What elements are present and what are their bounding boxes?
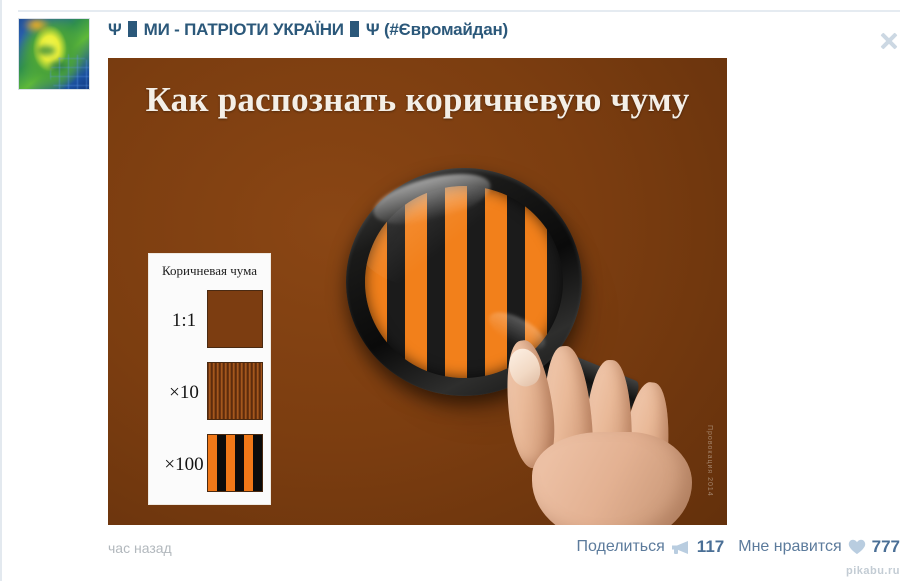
legend-row: 1:1 (157, 290, 265, 352)
legend-row: ×100 (157, 434, 265, 496)
share-label: Поделиться (576, 538, 664, 556)
legend-row-label: ×10 (157, 382, 211, 404)
site-watermark: pikabu.ru (846, 565, 900, 577)
post-page: Ψ МИ - ПАТРІОТИ УКРАЇНИ Ψ (#Євромайдан) … (0, 0, 918, 581)
avatar-grid-overlay (50, 54, 90, 90)
poster-watermark: Провокация 2014 (706, 425, 713, 497)
legend-row-label: 1:1 (157, 310, 211, 332)
close-icon[interactable] (878, 30, 900, 52)
block-glyph-left-icon (128, 21, 137, 37)
avatar-face-detail-1 (37, 46, 55, 56)
legend-row: ×10 (157, 362, 265, 424)
block-glyph-right-icon (350, 21, 359, 37)
like-button[interactable]: Мне нравится 777 (738, 537, 900, 557)
hand-fingernail (505, 345, 545, 390)
top-divider (18, 10, 900, 12)
post-title[interactable]: Ψ МИ - ПАТРІОТИ УКРАЇНИ Ψ (#Євромайдан) (108, 20, 508, 40)
post-actions: Поделиться 117 Мне нравится 777 (576, 537, 900, 557)
post-title-symbol-right: Ψ (366, 20, 380, 39)
hand-palm (532, 432, 692, 525)
heart-icon (848, 539, 866, 555)
avatar[interactable] (18, 18, 90, 90)
post-image[interactable]: Как распознать коричневую чуму Коричнева… (108, 58, 727, 525)
like-count: 777 (872, 537, 900, 557)
legend-swatch-solid-brown (207, 290, 263, 348)
post-title-text: МИ - ПАТРІОТИ УКРАЇНИ (144, 20, 349, 39)
share-button[interactable]: Поделиться 117 (576, 537, 724, 557)
legend-swatch-orange-black-stripes (207, 434, 263, 492)
legend-title: Коричневая чума (149, 263, 270, 279)
legend-swatch-fine-stripes (207, 362, 263, 420)
post-title-symbol-left: Ψ (108, 20, 122, 39)
post-title-tag: (#Євромайдан) (384, 20, 508, 39)
legend-row-label: ×100 (157, 454, 211, 476)
container-left-border (0, 0, 2, 581)
hand-illustration (506, 340, 706, 525)
post-footer: час назад Поделиться 117 Мне нравится (0, 533, 918, 581)
avatar-gradient-warm (22, 18, 51, 34)
poster-headline: Как распознать коричневую чуму (108, 80, 727, 120)
share-count: 117 (697, 537, 724, 557)
post-timestamp: час назад (108, 540, 172, 556)
poster-legend-card: Коричневая чума 1:1 ×10 ×100 (148, 253, 271, 505)
megaphone-icon (671, 540, 691, 555)
like-label: Мне нравится (738, 538, 841, 556)
